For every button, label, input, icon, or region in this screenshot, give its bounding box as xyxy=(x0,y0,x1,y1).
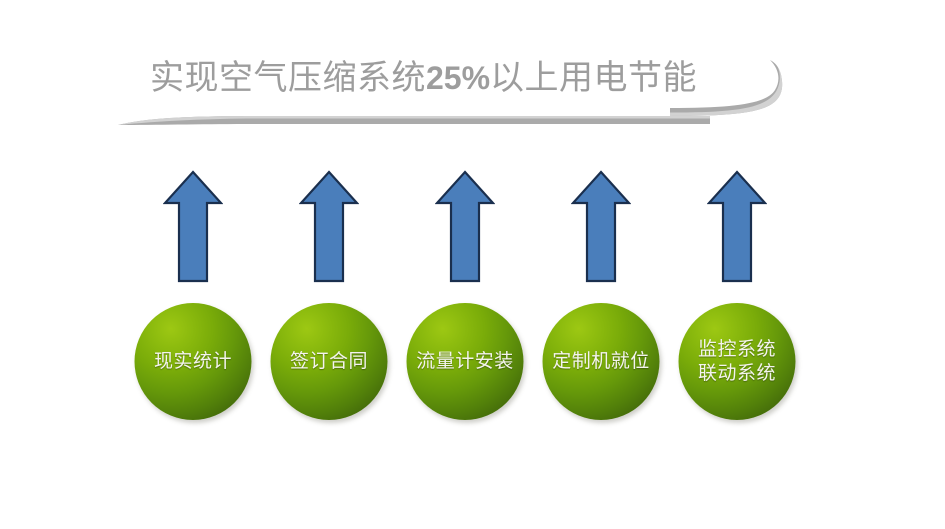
up-arrow-icon xyxy=(163,170,223,283)
flow-step-5[interactable]: 监控系统 联动系统 xyxy=(670,170,804,425)
step-label: 监控系统 联动系统 xyxy=(698,338,776,386)
flow-step-2[interactable]: 签订合同 xyxy=(262,170,396,425)
step-bubble[interactable]: 流量计安装 xyxy=(407,303,524,420)
step-label: 定制机就位 xyxy=(552,350,650,374)
step-bubble[interactable]: 监控系统 联动系统 xyxy=(679,303,796,420)
step-label: 签订合同 xyxy=(290,350,368,374)
flow-step-3[interactable]: 流量计安装 xyxy=(398,170,532,425)
step-bubble[interactable]: 现实统计 xyxy=(135,303,252,420)
step-bubble[interactable]: 定制机就位 xyxy=(543,303,660,420)
up-arrow-icon xyxy=(435,170,495,283)
step-label: 流量计安装 xyxy=(416,350,514,374)
flow-step-4[interactable]: 定制机就位 xyxy=(534,170,668,425)
process-flow: 现实统计 签订合同 流量计安装 定 xyxy=(0,0,945,529)
up-arrow-icon xyxy=(707,170,767,283)
flow-step-1[interactable]: 现实统计 xyxy=(126,170,260,425)
up-arrow-icon xyxy=(571,170,631,283)
step-label: 现实统计 xyxy=(154,350,232,374)
slide-canvas: 实现空气压缩系统25%以上用电节能 现实统计 签订合同 xyxy=(0,0,945,529)
step-bubble[interactable]: 签订合同 xyxy=(271,303,388,420)
up-arrow-icon xyxy=(299,170,359,283)
